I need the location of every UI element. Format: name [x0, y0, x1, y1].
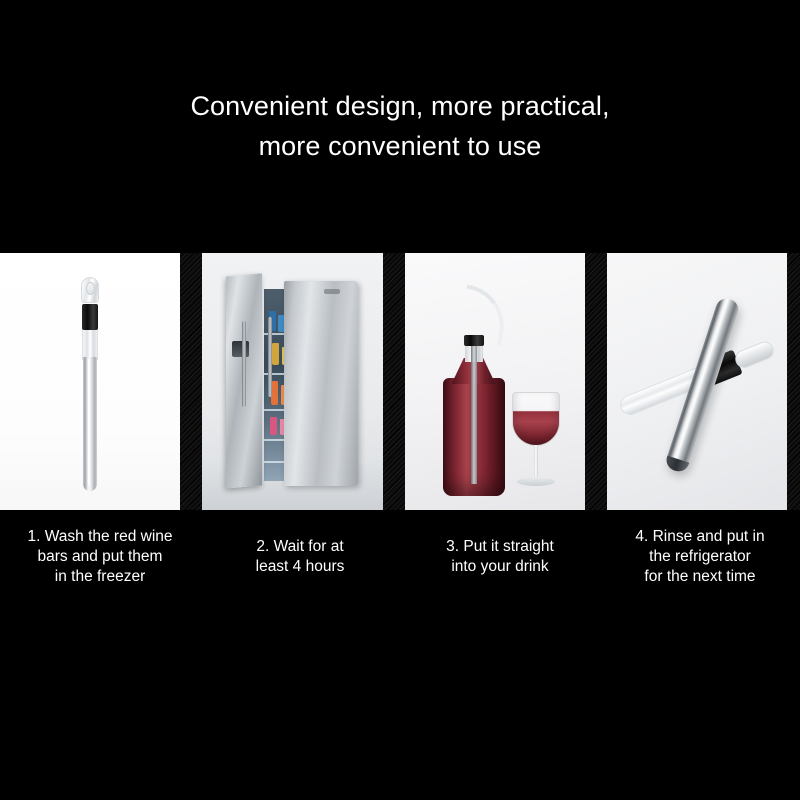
caption-line: in the freezer [6, 567, 194, 587]
shaft-highlight-icon [88, 359, 90, 485]
caption-line: bars and put them [6, 547, 194, 567]
refrigerator-graphic [224, 275, 362, 490]
headline-line-2: more convenient to use [0, 126, 800, 166]
step-image-3-bottle-and-glass [405, 253, 585, 510]
caption-line: the refrigerator [606, 547, 794, 567]
step-image-1-wine-chiller-rod [0, 253, 180, 510]
step-image-strip [0, 253, 800, 510]
black-collar-icon [82, 304, 98, 330]
spout-opening-icon [86, 282, 95, 295]
caption-line: into your drink [406, 557, 594, 577]
fridge-bottle [271, 381, 278, 405]
glass-foot [517, 477, 555, 486]
fridge-right-handle [268, 317, 272, 397]
rod-end-cap [664, 456, 690, 475]
fridge-bottle [270, 417, 277, 435]
fridge-left-handle [242, 321, 246, 407]
panel-divider-right-edge [787, 253, 800, 510]
step-captions: 1. Wash the red wine bars and put them i… [0, 527, 800, 607]
pour-spout-curve-icon [462, 286, 508, 342]
headline: Convenient design, more practical, more … [0, 86, 800, 166]
wine-glass-graphic [509, 392, 563, 494]
panel-divider-1 [180, 253, 202, 510]
glass-stem [534, 445, 538, 479]
clear-tip [732, 339, 776, 371]
spout-curve [457, 285, 510, 346]
wine-bottle-graphic [443, 324, 505, 496]
caption-line: 4. Rinse and put in [606, 527, 794, 547]
step-image-2-refrigerator [202, 253, 382, 510]
steel-shaft-icon [83, 357, 97, 491]
panel-divider-3 [585, 253, 607, 510]
step-caption-4: 4. Rinse and put in the refrigerator for… [600, 527, 800, 607]
step-caption-1: 1. Wash the red wine bars and put them i… [0, 527, 200, 607]
clear-body-icon [82, 330, 98, 360]
caption-line: 1. Wash the red wine [6, 527, 194, 547]
fridge-badge [324, 289, 340, 294]
headline-line-1: Convenient design, more practical, [0, 86, 800, 126]
step-caption-3: 3. Put it straight into your drink [400, 527, 600, 607]
caption-line: for the next time [606, 567, 794, 587]
inserted-chiller-rod [471, 344, 477, 484]
chiller-rod-graphic [79, 277, 101, 491]
caption-line: least 4 hours [206, 557, 394, 577]
fridge-dispenser-panel [232, 341, 249, 357]
fridge-right-door [284, 281, 358, 486]
fridge-bottle [272, 343, 279, 365]
glass-bowl-with-wine [512, 392, 560, 446]
step-image-4-crossed-rods [607, 253, 787, 510]
product-infographic-poster: Convenient design, more practical, more … [0, 0, 800, 800]
step-caption-2: 2. Wait for at least 4 hours [200, 527, 400, 607]
caption-line: 3. Put it straight [406, 537, 594, 557]
caption-line: 2. Wait for at [206, 537, 394, 557]
panel-divider-2 [383, 253, 405, 510]
